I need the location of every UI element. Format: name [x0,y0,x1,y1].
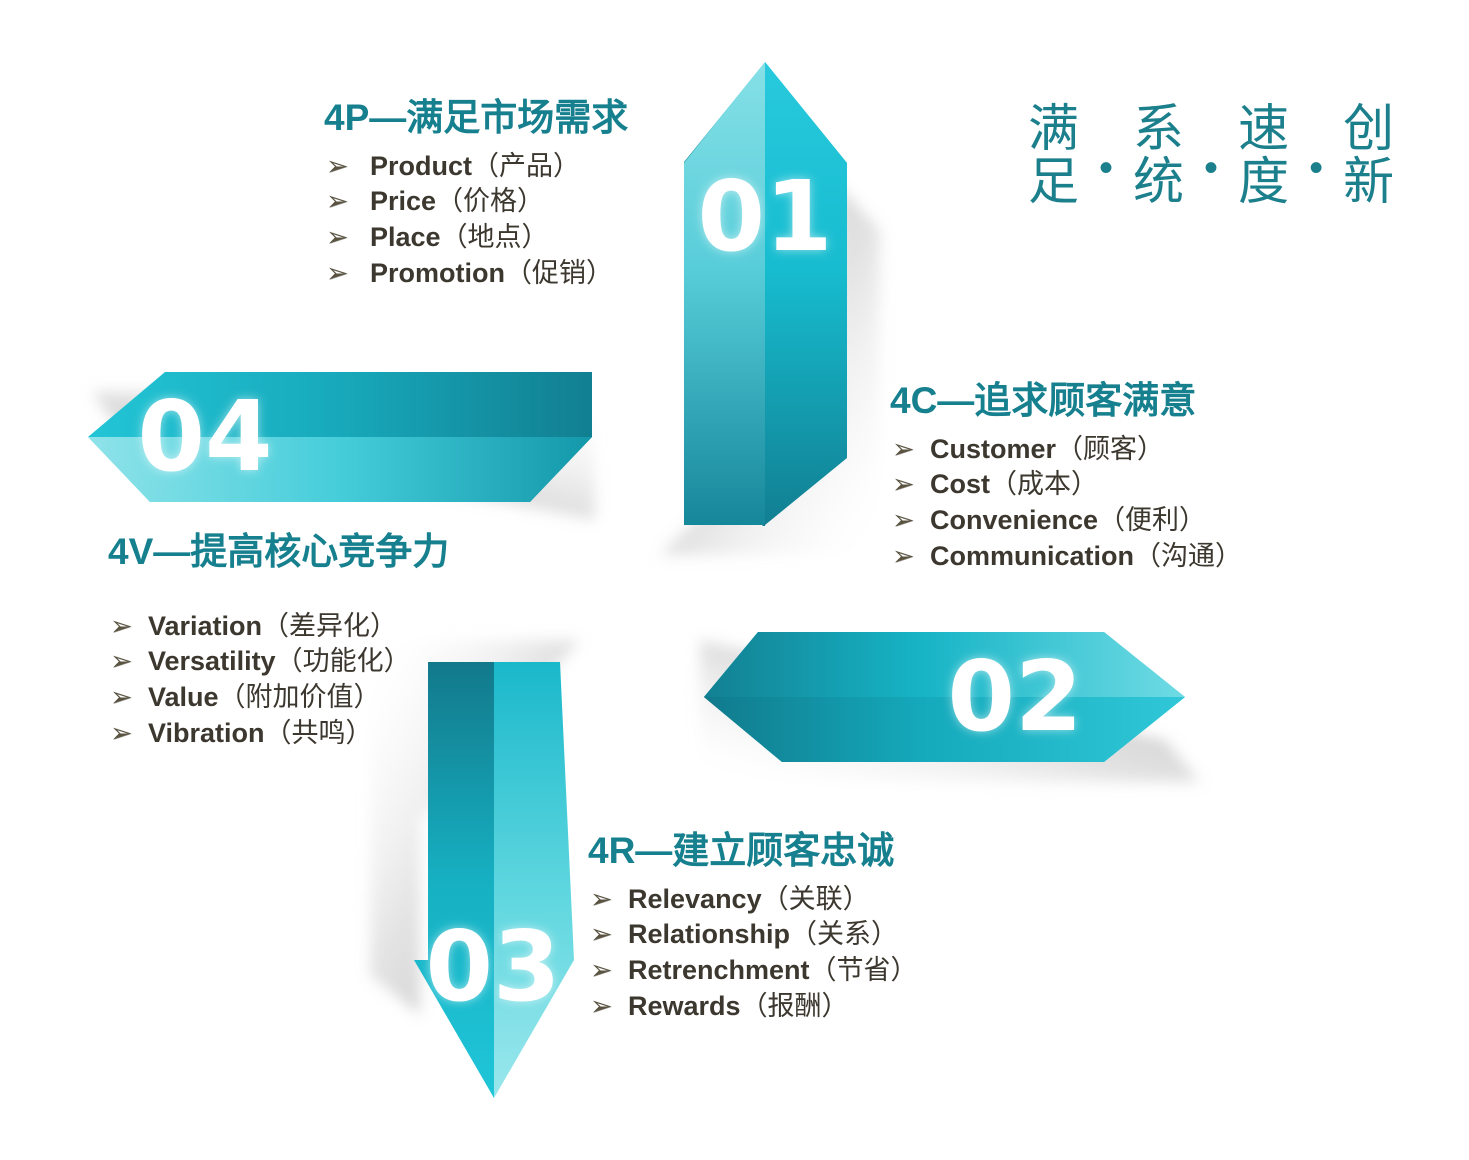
term-cn: （价格） [436,184,544,220]
term-en: Customer [930,432,1056,468]
term-en: Promotion [370,256,505,292]
term-cn: （沟通） [1134,539,1242,575]
bullet-arrow-icon: ➢ [110,613,148,640]
term-cn: （地点） [441,220,549,256]
list-item: ➢ Convenience （便利） [892,503,1242,539]
bullet-arrow-icon: ➢ [590,886,628,913]
list-item: ➢ Rewards （报酬） [590,989,918,1025]
term-en: Price [370,184,436,220]
term-cn: （报酬） [741,989,849,1025]
heading-4v: 4V—提高核心竞争力 [108,532,449,573]
slogan-char: 新 [1343,157,1394,210]
list-item: ➢ Product （产品） [326,149,628,185]
bullet-arrow-icon: ➢ [892,436,930,463]
list-item: ➢ Communication （沟通） [892,539,1242,575]
list-item: ➢ Relevancy （关联） [590,882,918,918]
bullet-arrow-icon: ➢ [110,684,148,711]
heading-4p: 4P—满足市场需求 [324,98,628,139]
list-item: ➢ Customer （顾客） [892,432,1242,468]
slide-canvas: 01 02 03 04 4P—满足市场需求 ➢ Product （产品） ➢ P… [0,0,1469,1160]
section-4v: 4V—提高核心竞争力 ➢ Variation （差异化） ➢ Versatili… [108,532,449,751]
list-item: ➢ Cost （成本） [892,467,1242,503]
term-en: Relationship [628,917,790,953]
heading-4r: 4R—建立顾客忠诚 [588,831,918,872]
list-item: ➢ Place （地点） [326,220,628,256]
list-item: ➢ Promotion （促销） [326,256,628,292]
section-4c: 4C—追求顾客满意 ➢ Customer （顾客） ➢ Cost （成本） ➢ … [890,381,1242,574]
bullet-arrow-icon: ➢ [590,993,628,1020]
term-cn: （差异化） [262,609,397,645]
list-item: ➢ Retrenchment （节省） [590,953,918,989]
slogan-separator-dot: • [1184,148,1238,188]
bullet-arrow-icon: ➢ [326,224,370,251]
slogan-word-3: 速 度 [1238,104,1289,209]
arrow-number-02: 02 [948,640,1083,753]
section-4p: 4P—满足市场需求 ➢ Product （产品） ➢ Price （价格） ➢ … [324,98,628,291]
term-en: Place [370,220,441,256]
list-item: ➢ Price （价格） [326,184,628,220]
arrow-number-03: 03 [426,910,561,1023]
term-cn: （附加价值） [219,680,381,716]
term-en: Retrenchment [628,953,810,989]
bullet-arrow-icon: ➢ [326,260,370,287]
term-en: Cost [930,467,990,503]
list-4c: ➢ Customer （顾客） ➢ Cost （成本） ➢ Convenienc… [890,432,1242,575]
slogan-char: 统 [1133,157,1184,210]
slogan-char: 创 [1343,104,1394,157]
term-en: Versatility [148,644,276,680]
bullet-arrow-icon: ➢ [110,648,148,675]
slogan-separator-dot: • [1079,148,1133,188]
term-cn: （关系） [790,917,898,953]
term-en: Communication [930,539,1134,575]
arrow-number-01: 01 [698,160,833,273]
term-en: Convenience [930,503,1098,539]
term-cn: （关联） [762,882,870,918]
list-item: ➢ Value （附加价值） [110,680,449,716]
bullet-arrow-icon: ➢ [326,188,370,215]
list-4v: ➢ Variation （差异化） ➢ Versatility （功能化） ➢ … [108,609,449,752]
term-cn: （产品） [472,149,580,185]
heading-4c: 4C—追求顾客满意 [890,381,1242,422]
term-cn: （共鸣） [265,716,373,752]
slogan-word-4: 创 新 [1343,104,1394,209]
slogan-char: 满 [1028,104,1079,157]
term-cn: （成本） [990,467,1098,503]
slogan-char: 足 [1028,157,1079,210]
term-en: Value [148,680,219,716]
term-cn: （促销） [505,256,613,292]
slogan-word-2: 系 统 [1133,104,1184,209]
bullet-arrow-icon: ➢ [590,921,628,948]
term-en: Variation [148,609,262,645]
arrow-number-04: 04 [138,380,273,493]
list-4r: ➢ Relevancy （关联） ➢ Relationship （关系） ➢ R… [588,882,918,1025]
term-en: Vibration [148,716,265,752]
slogan-char: 系 [1133,104,1184,157]
term-cn: （功能化） [276,644,411,680]
arrow-02-right[interactable] [704,632,1185,762]
bullet-arrow-icon: ➢ [110,720,148,747]
list-item: ➢ Versatility （功能化） [110,644,449,680]
term-cn: （节省） [810,953,918,989]
list-item: ➢ Variation （差异化） [110,609,449,645]
term-en: Product [370,149,472,185]
slogan-char: 度 [1238,157,1289,210]
term-cn: （顾客） [1056,432,1164,468]
section-4r: 4R—建立顾客忠诚 ➢ Relevancy （关联） ➢ Relationshi… [588,831,918,1024]
slogan-word-1: 满 足 [1028,104,1079,209]
slogan-banner: 满 足 • 系 统 • 速 度 • 创 新 [1028,104,1394,209]
term-en: Relevancy [628,882,762,918]
list-item: ➢ Vibration （共鸣） [110,716,449,752]
bullet-arrow-icon: ➢ [590,957,628,984]
arrow-01-up[interactable] [684,62,847,526]
list-item: ➢ Relationship （关系） [590,917,918,953]
term-cn: （便利） [1098,503,1206,539]
list-4p: ➢ Product （产品） ➢ Price （价格） ➢ Place （地点）… [324,149,628,292]
term-en: Rewards [628,989,741,1025]
bullet-arrow-icon: ➢ [892,471,930,498]
bullet-arrow-icon: ➢ [892,507,930,534]
bullet-arrow-icon: ➢ [326,153,370,180]
slogan-char: 速 [1238,104,1289,157]
bullet-arrow-icon: ➢ [892,543,930,570]
slogan-separator-dot: • [1289,148,1343,188]
